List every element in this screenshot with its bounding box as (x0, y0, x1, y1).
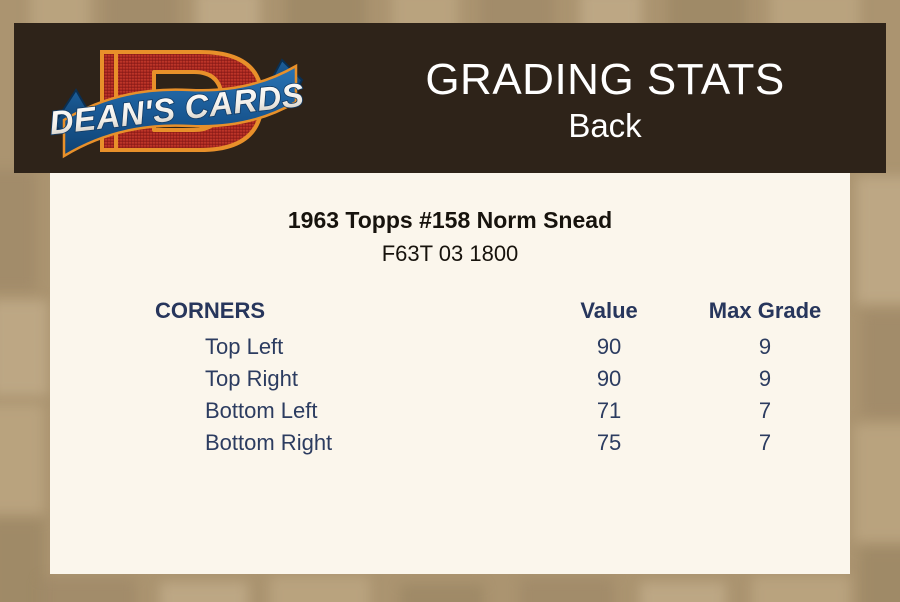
column-header-max-grade: Max Grade (680, 298, 850, 331)
table-row: Top Left 90 9 (50, 331, 850, 363)
row-label-bottom-right: Bottom Right (50, 427, 538, 459)
column-header-value: Value (538, 298, 680, 331)
table-row: Bottom Left 71 7 (50, 395, 850, 427)
row-label-top-left: Top Left (50, 331, 538, 363)
deans-cards-logo: DEAN'S CARDS (50, 28, 308, 173)
row-max-grade-top-left: 9 (680, 331, 850, 363)
row-value-bottom-left: 71 (538, 395, 680, 427)
table-body: Top Left 90 9 Top Right 90 9 Bottom Left… (50, 331, 850, 459)
row-value-top-left: 90 (538, 331, 680, 363)
row-label-top-right: Top Right (50, 363, 538, 395)
row-max-grade-bottom-right: 7 (680, 427, 850, 459)
card-title: 1963 Topps #158 Norm Snead (50, 207, 850, 235)
grading-stats-table: CORNERS Value Max Grade Top Left 90 9 To… (50, 298, 850, 459)
table-row: Bottom Right 75 7 (50, 427, 850, 459)
row-max-grade-top-right: 9 (680, 363, 850, 395)
table-row: Top Right 90 9 (50, 363, 850, 395)
card-info: 1963 Topps #158 Norm Snead F63T 03 1800 (50, 165, 850, 268)
header-titles: GRADING STATS Back (324, 23, 886, 173)
page-title: GRADING STATS (425, 56, 784, 104)
row-max-grade-bottom-left: 7 (680, 395, 850, 427)
row-value-top-right: 90 (538, 363, 680, 395)
card-code: F63T 03 1800 (50, 240, 850, 269)
table-header-row: CORNERS Value Max Grade (50, 298, 850, 331)
content-panel: 1963 Topps #158 Norm Snead F63T 03 1800 … (50, 165, 850, 574)
row-value-bottom-right: 75 (538, 427, 680, 459)
column-header-corners: CORNERS (50, 298, 538, 331)
page-subtitle: Back (568, 105, 641, 146)
header-bar: DEAN'S CARDS GRADING STATS Back (14, 23, 886, 173)
row-label-bottom-left: Bottom Left (50, 395, 538, 427)
